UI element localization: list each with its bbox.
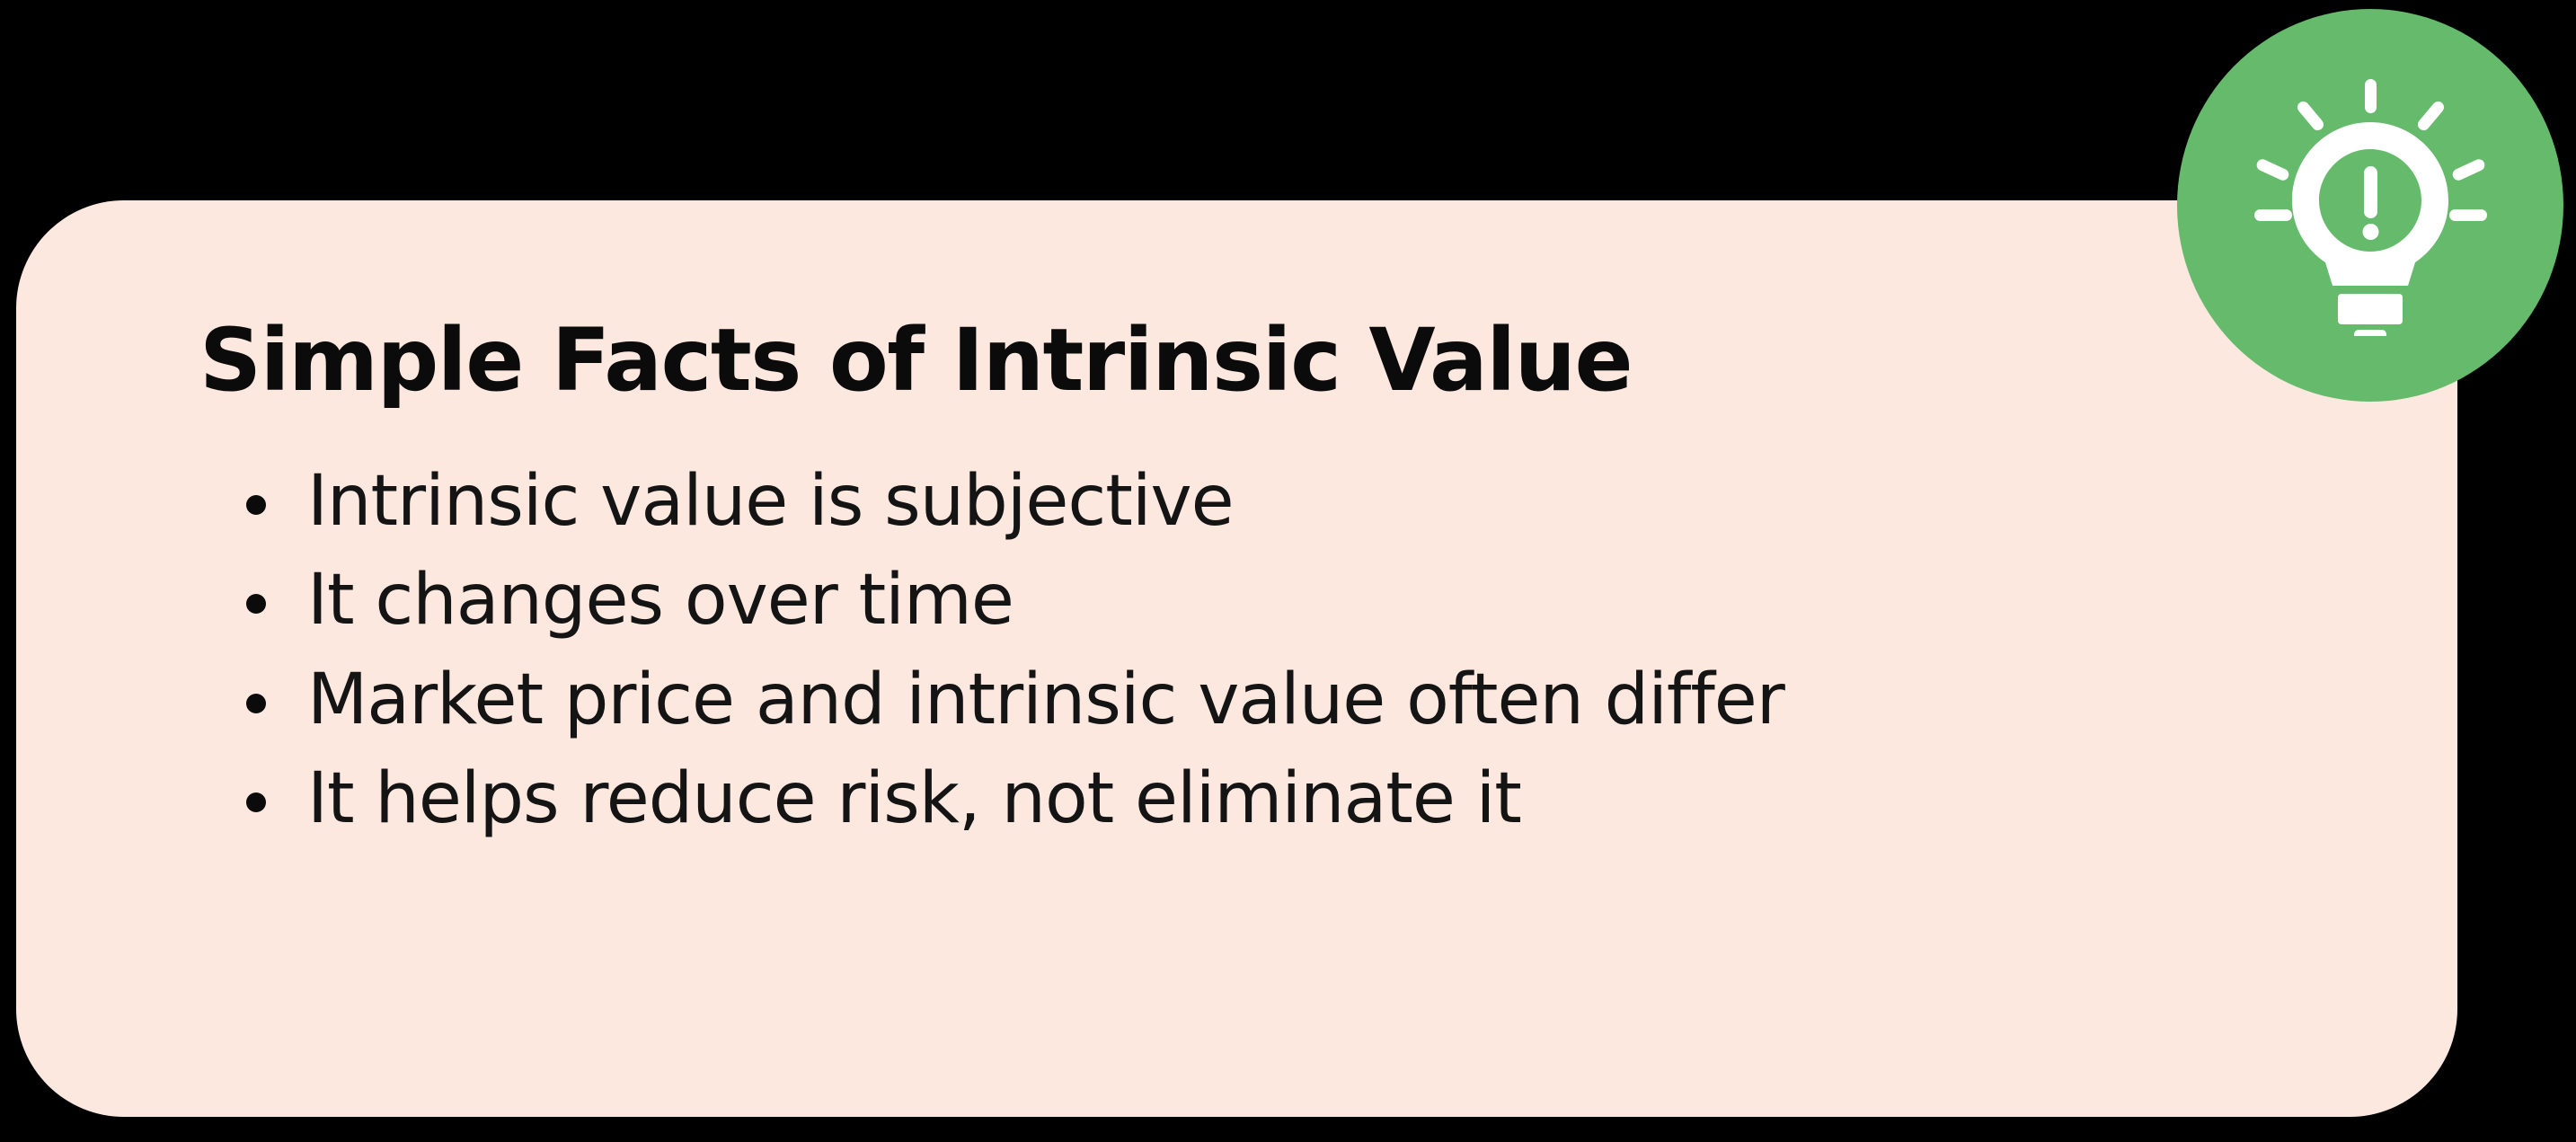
list-item: Intrinsic value is subjective <box>239 461 2306 542</box>
page-title: Simple Facts of Intrinsic Value <box>199 315 1632 406</box>
lightbulb-exclamation-icon <box>2249 75 2492 336</box>
list-item-label: Intrinsic value is subjective <box>307 461 1234 542</box>
card-content: Simple Facts of Intrinsic Value Intrinsi… <box>16 200 2457 1117</box>
list-item-label: It changes over time <box>307 560 1014 641</box>
list-item-label: It helps reduce risk, not eliminate it <box>307 758 1521 839</box>
bullet-dot-icon <box>246 694 266 713</box>
lightbulb-badge <box>2177 9 2563 402</box>
facts-list: Intrinsic value is subjective It changes… <box>239 461 2306 840</box>
bullet-dot-icon <box>246 792 266 812</box>
slide-canvas: Simple Facts of Intrinsic Value Intrinsi… <box>0 0 2576 1142</box>
bullet-dot-icon <box>246 495 266 515</box>
list-item: It changes over time <box>239 560 2306 641</box>
list-item: It helps reduce risk, not eliminate it <box>239 758 2306 839</box>
list-item: Market price and intrinsic value often d… <box>239 660 2306 740</box>
bullet-dot-icon <box>246 594 266 614</box>
list-item-label: Market price and intrinsic value often d… <box>307 660 1784 740</box>
facts-card: Simple Facts of Intrinsic Value Intrinsi… <box>16 200 2457 1117</box>
